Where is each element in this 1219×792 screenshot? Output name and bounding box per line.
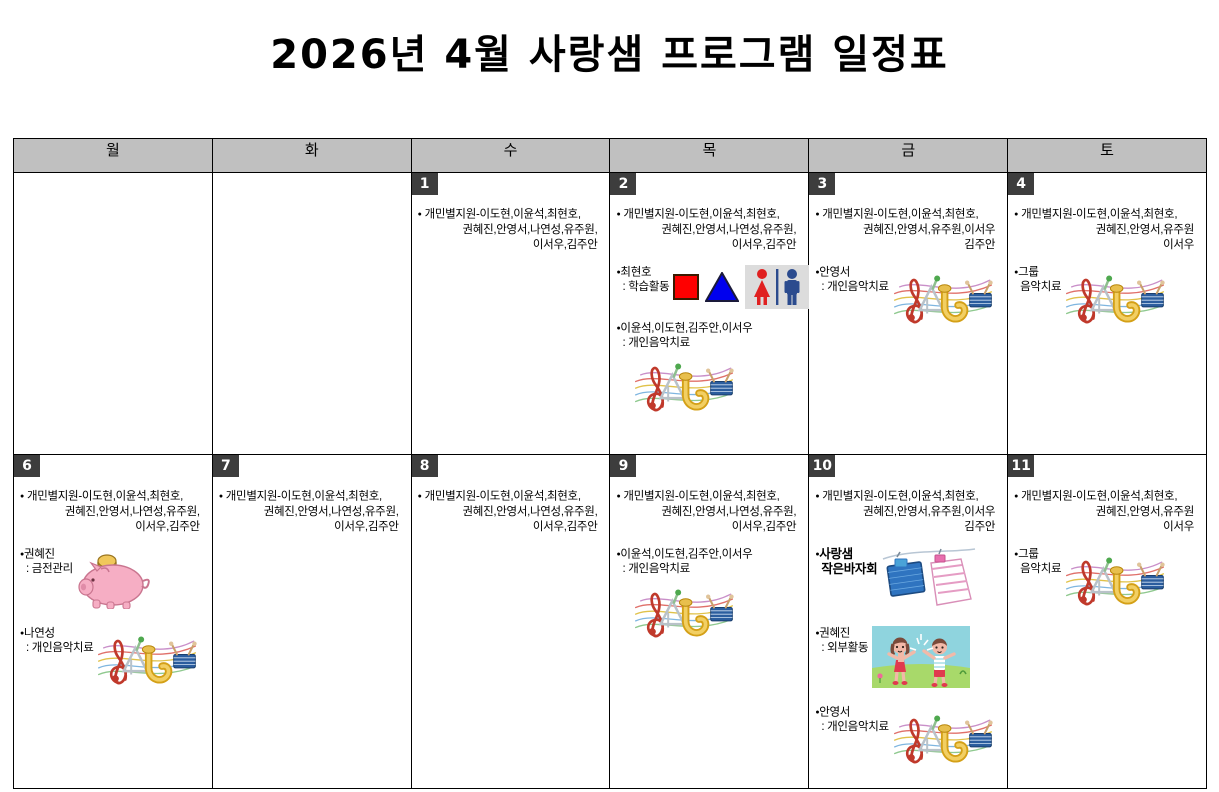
roster-line: 이서우,김주안: [418, 238, 602, 253]
program-entry: ●최현호: 학습활동: [616, 265, 802, 317]
day-cell-3[interactable]: 3●개민별지원-이도현,이윤석,최현호,권혜진,안영서,유주원,이서우김주안●안…: [809, 173, 1008, 455]
program-entry-row: ●안영서: 개인음악치료: [815, 265, 1001, 332]
day-cell-body: ●개민별지원-이도현,이윤석,최현호,권혜진,안영서,유주원,이서우김주안●안영…: [809, 173, 1007, 348]
program-title: ●그룹: [1014, 265, 1061, 281]
program-title: ●최현호: [616, 265, 669, 281]
roster-line: 권혜진,안영서,나연성,유주원,: [418, 223, 602, 238]
entry-spacer: [1014, 332, 1200, 340]
roster-line: ●개민별지원-이도현,이윤석,최현호,: [815, 489, 999, 505]
program-entry: ●권혜진: 금전관리: [20, 547, 206, 622]
calendar-container: 월화수목금토 1●개민별지원-이도현,이윤석,최현호,권혜진,안영서,나연성,유…: [13, 138, 1207, 789]
roster-line: 권혜진,안영서,나연성,유주원,: [418, 505, 602, 520]
day-number-badge: 8: [412, 455, 438, 477]
music-icon: [893, 265, 993, 327]
day-cell-body: ●개민별지원-이도현,이윤석,최현호,권혜진,안영서,유주원,이서우김주안●사랑…: [809, 455, 1007, 788]
program-entry-row: ●권혜진: 외부활동: [815, 626, 1001, 693]
roster-line-text: 이서우,김주안: [533, 239, 598, 251]
day-cell-10[interactable]: 10●개민별지원-이도현,이윤석,최현호,권혜진,안영서,유주원,이서우김주안●…: [809, 455, 1008, 789]
day-cell-body: ●개민별지원-이도현,이윤석,최현호,권혜진,안영서,나연성,유주원,이서우,김…: [610, 455, 808, 662]
program-entry-row: ●이윤석,이도현,김주안,이서우: 개인음악치료: [616, 547, 802, 647]
day-number-badge: 1: [412, 173, 438, 195]
day-cell-body: ●개민별지원-이도현,이윤석,최현호,권혜진,안영서,유주원이서우●그룹음악치료: [1008, 173, 1206, 348]
kids-outdoor-icon: [872, 626, 970, 688]
bullet-icon: ●: [219, 493, 223, 500]
day-cell-body: ●개민별지원-이도현,이윤석,최현호,권혜진,안영서,나연성,유주원,이서우,김…: [213, 455, 411, 551]
roster-line: 김주안: [815, 520, 999, 535]
roster-line-text: 권혜진,안영서,유주원,이서우: [863, 506, 995, 518]
day-cell-1[interactable]: 1●개민별지원-이도현,이윤석,최현호,권혜진,안영서,나연성,유주원,이서우,…: [411, 173, 610, 455]
piggybank-icon: [77, 547, 155, 609]
program-title-text: 그룹: [1018, 266, 1039, 278]
entry-spacer: [815, 614, 1001, 622]
treble-clef-icon: [907, 719, 922, 761]
entry-spacer: [616, 309, 802, 317]
program-clipart: [872, 626, 970, 693]
roster-line-text: 이서우,김주안: [135, 521, 200, 533]
day-number-badge: 2: [610, 173, 636, 195]
entry-spacer: [20, 614, 206, 622]
roster-line: 권혜진,안영서,유주원: [1014, 505, 1198, 520]
program-title-text: 이윤석,이도현,김주안,이서우: [620, 322, 752, 334]
triangle-instrument-icon: [1092, 557, 1115, 595]
day-cell-body: [14, 173, 212, 211]
roster-line: ●개민별지원-이도현,이윤석,최현호,: [219, 489, 403, 505]
roster-line: 권혜진,안영서,나연성,유주원,: [219, 505, 403, 520]
roster-line-text: 개민별지원-이도현,이윤석,최현호,: [1021, 491, 1177, 503]
day-cell-8[interactable]: 8●개민별지원-이도현,이윤석,최현호,권혜진,안영서,나연성,유주원,이서우,…: [411, 455, 610, 789]
day-cell-body: ●개민별지원-이도현,이윤석,최현호,권혜진,안영서,유주원이서우●그룹음악치료: [1008, 455, 1206, 630]
program-clipart: [97, 626, 197, 693]
roster-line-text: 김주안: [964, 521, 995, 533]
roster-entry: ●개민별지원-이도현,이윤석,최현호,권혜진,안영서,나연성,유주원,이서우,김…: [20, 489, 206, 543]
roster-entry: ●개민별지원-이도현,이윤석,최현호,권혜진,안영서,유주원,이서우김주안: [815, 207, 1001, 261]
program-entry: ●그룹음악치료: [1014, 265, 1200, 340]
roster-line: 이서우: [1014, 238, 1198, 253]
program-title: ●이윤석,이도현,김주안,이서우: [616, 547, 802, 563]
program-entry-text: ●그룹음악치료: [1014, 265, 1061, 296]
bullet-icon: ●: [418, 493, 422, 500]
program-subtitle: : 개인음악치료: [815, 720, 888, 735]
day-cell-body: ●개민별지원-이도현,이윤석,최현호,권혜진,안영서,나연성,유주원,이서우,김…: [610, 173, 808, 436]
program-entry-text: ●권혜진: 금전관리: [20, 547, 73, 578]
entry-spacer: [20, 693, 206, 701]
program-title: ●안영서: [815, 265, 888, 281]
day-number-badge: 10: [809, 455, 835, 477]
roster-line-text: 권혜진,안영서,나연성,유주원,: [661, 224, 796, 236]
blue-triangle-icon: [705, 272, 739, 302]
day-cell-11[interactable]: 11●개민별지원-이도현,이윤석,최현호,권혜진,안영서,유주원이서우●그룹음악…: [1008, 455, 1207, 789]
day-cell-2[interactable]: 2●개민별지원-이도현,이윤석,최현호,권혜진,안영서,나연성,유주원,이서우,…: [610, 173, 809, 455]
music-icon: [893, 705, 993, 767]
entry-spacer: [815, 693, 1001, 701]
triangle-instrument-icon: [919, 715, 942, 753]
day-number-badge: 6: [14, 455, 40, 477]
triangle-instrument-icon: [1092, 275, 1115, 313]
program-title: ●이윤석,이도현,김주안,이서우: [616, 321, 802, 337]
red-square-icon: [673, 274, 699, 300]
program-entry: ●이윤석,이도현,김주안,이서우: 개인음악치료: [616, 321, 802, 429]
triangle-instrument-icon: [661, 364, 684, 402]
shapes-restroom-icon: [673, 265, 809, 309]
roster-line-text: 권혜진,안영서,나연성,유주원,: [661, 506, 796, 518]
restroom-sign-icon: [745, 265, 809, 309]
entry-spacer: [1014, 535, 1200, 543]
bullet-icon: ●: [815, 493, 819, 500]
roster-line: 권혜진,안영서,나연성,유주원,: [616, 505, 800, 520]
saxophone-icon: [1111, 566, 1137, 600]
day-cell-6[interactable]: 6●개민별지원-이도현,이윤석,최현호,권혜진,안영서,나연성,유주원,이서우,…: [14, 455, 213, 789]
bullet-icon: ●: [815, 211, 819, 218]
bullet-icon: ●: [616, 493, 620, 500]
program-entry-row: ●그룹음악치료: [1014, 265, 1200, 332]
program-entry-row: ●사랑샘작은바자회: [815, 547, 1001, 614]
bullet-icon: ●: [418, 211, 422, 218]
weekday-header-4: 금: [809, 139, 1008, 173]
program-title-text: 사랑샘: [819, 547, 853, 561]
roster-line: 권혜진,안영서,유주원,이서우: [815, 505, 999, 520]
day-number-badge: 4: [1008, 173, 1034, 195]
roster-line: 권혜진,안영서,나연성,유주원,: [616, 223, 800, 238]
program-entry: ●권혜진: 외부활동: [815, 626, 1001, 701]
roster-line-text: 권혜진,안영서,유주원: [1096, 506, 1194, 518]
roster-line-text: 개민별지원-이도현,이윤석,최현호,: [425, 209, 581, 221]
roster-line: ●개민별지원-이도현,이윤석,최현호,: [815, 207, 999, 223]
program-entry-text: ●안영서: 개인음악치료: [815, 705, 888, 736]
day-cell-body: ●개민별지원-이도현,이윤석,최현호,권혜진,안영서,나연성,유주원,이서우,김…: [412, 173, 610, 269]
program-title-text: 나연성: [24, 627, 55, 639]
roster-line-text: 개민별지원-이도현,이윤석,최현호,: [1021, 209, 1177, 221]
program-entry: ●이윤석,이도현,김주안,이서우: 개인음악치료: [616, 547, 802, 655]
entry-spacer: [418, 535, 604, 543]
program-subtitle: 작은바자회: [815, 562, 877, 577]
entry-spacer: [815, 332, 1001, 340]
pink-skirt-icon: [931, 549, 971, 605]
program-subtitle: : 개인음악치료: [616, 336, 802, 351]
roster-entry: ●개민별지원-이도현,이윤석,최현호,권혜진,안영서,유주원,이서우김주안: [815, 489, 1001, 543]
bullet-icon: ●: [1014, 211, 1018, 218]
roster-line: 김주안: [815, 238, 999, 253]
calendar-header-row: 월화수목금토: [14, 139, 1207, 173]
triangle-instrument-icon: [661, 590, 684, 628]
entry-spacer: [815, 772, 1001, 780]
roster-line: 권혜진,안영서,유주원,이서우: [815, 223, 999, 238]
program-title: ●사랑샘: [815, 547, 877, 562]
entry-spacer: [815, 535, 1001, 543]
program-subtitle: : 개인음악치료: [616, 562, 802, 577]
entry-spacer: [616, 535, 802, 543]
program-subtitle: : 학습활동: [616, 280, 669, 295]
saxophone-icon: [1111, 284, 1137, 318]
roster-entry: ●개민별지원-이도현,이윤석,최현호,권혜진,안영서,유주원이서우: [1014, 207, 1200, 261]
roster-line-text: 이서우,김주안: [732, 521, 797, 533]
weekday-header-0: 월: [14, 139, 213, 173]
treble-clef-icon: [907, 279, 922, 321]
treble-clef-icon: [649, 594, 664, 636]
program-title-text: 권혜진: [819, 627, 850, 639]
treble-clef-icon: [649, 368, 664, 410]
program-entry: ●사랑샘작은바자회: [815, 547, 1001, 622]
page-title: 2026년 4월 사랑샘 프로그램 일정표: [0, 0, 1219, 80]
roster-line: 권혜진,안영서,나연성,유주원,: [20, 505, 204, 520]
program-clipart: [881, 547, 977, 614]
program-entry: ●안영서: 개인음악치료: [815, 705, 1001, 780]
program-clipart: [893, 265, 993, 332]
schedule-page: 2026년 4월 사랑샘 프로그램 일정표 월화수목금토 1●개민별지원-이도현…: [0, 0, 1219, 792]
saxophone-icon: [938, 284, 964, 318]
program-entry-text: ●안영서: 개인음악치료: [815, 265, 888, 296]
program-title: ●안영서: [815, 705, 888, 721]
entry-spacer: [1014, 614, 1200, 622]
program-subtitle: : 개인음악치료: [815, 280, 888, 295]
program-title-text: 안영서: [819, 706, 850, 718]
saxophone-icon: [938, 724, 964, 758]
roster-entry: ●개민별지원-이도현,이윤석,최현호,권혜진,안영서,나연성,유주원,이서우,김…: [418, 489, 604, 543]
roster-line: 권혜진,안영서,유주원: [1014, 223, 1198, 238]
program-entry-row: ●나연성: 개인음악치료: [20, 626, 206, 693]
calendar-table: 월화수목금토 1●개민별지원-이도현,이윤석,최현호,권혜진,안영서,나연성,유…: [13, 138, 1207, 789]
program-clipart: [1065, 265, 1165, 332]
day-cell-body: ●개민별지원-이도현,이윤석,최현호,권혜진,안영서,나연성,유주원,이서우,김…: [412, 455, 610, 551]
program-title: ●권혜진: [20, 547, 73, 563]
entry-spacer: [616, 253, 802, 261]
day-number-badge: 9: [610, 455, 636, 477]
program-clipart: [673, 265, 809, 309]
bullet-icon: ●: [20, 493, 24, 500]
roster-line: ●개민별지원-이도현,이윤석,최현호,: [20, 489, 204, 505]
day-cell-empty[interactable]: [14, 173, 213, 455]
treble-clef-icon: [1079, 561, 1094, 603]
roster-line-text: 개민별지원-이도현,이윤석,최현호,: [822, 209, 978, 221]
clothes-bazaar-icon: [881, 547, 977, 609]
program-subtitle: 음악치료: [1014, 280, 1061, 295]
roster-line-text: 권혜진,안영서,나연성,유주원,: [65, 506, 200, 518]
treble-clef-icon: [1079, 279, 1094, 321]
program-title-text: 그룹: [1018, 548, 1039, 560]
music-icon: [1065, 265, 1165, 327]
program-entry-row: ●그룹음악치료: [1014, 547, 1200, 614]
roster-line: 이서우,김주안: [418, 520, 602, 535]
program-clipart: [634, 353, 802, 420]
day-number-badge: 3: [809, 173, 835, 195]
roster-line-text: 개민별지원-이도현,이윤석,최현호,: [226, 491, 382, 503]
entry-spacer: [616, 646, 802, 654]
program-entry-text: ●이윤석,이도현,김주안,이서우: 개인음악치료: [616, 547, 802, 578]
program-title-text: 권혜진: [24, 548, 55, 560]
program-clipart: [77, 547, 155, 614]
roster-line-text: 개민별지원-이도현,이윤석,최현호,: [623, 209, 779, 221]
triangle-instrument-icon: [124, 636, 147, 674]
roster-line-text: 개민별지원-이도현,이윤석,최현호,: [27, 491, 183, 503]
roster-line: 이서우,김주안: [20, 520, 204, 535]
program-title-text: 이윤석,이도현,김주안,이서우: [620, 548, 752, 560]
roster-line: ●개민별지원-이도현,이윤석,최현호,: [616, 207, 800, 223]
program-entry-text: ●권혜진: 외부활동: [815, 626, 868, 657]
calendar-week-row: 1●개민별지원-이도현,이윤석,최현호,권혜진,안영서,나연성,유주원,이서우,…: [14, 173, 1207, 455]
roster-line-text: 개민별지원-이도현,이윤석,최현호,: [425, 491, 581, 503]
program-entry: ●안영서: 개인음악치료: [815, 265, 1001, 340]
roster-entry: ●개민별지원-이도현,이윤석,최현호,권혜진,안영서,나연성,유주원,이서우,김…: [219, 489, 405, 543]
calendar-week-row: 6●개민별지원-이도현,이윤석,최현호,권혜진,안영서,나연성,유주원,이서우,…: [14, 455, 1207, 789]
day-cell-body: [213, 173, 411, 211]
program-entry-row: ●이윤석,이도현,김주안,이서우: 개인음악치료: [616, 321, 802, 421]
roster-line: 이서우,김주안: [219, 520, 403, 535]
program-entry-row: ●권혜진: 금전관리: [20, 547, 206, 614]
music-icon: [634, 353, 734, 415]
entry-spacer: [418, 253, 604, 261]
roster-line: ●개민별지원-이도현,이윤석,최현호,: [616, 489, 800, 505]
program-entry: ●그룹음악치료: [1014, 547, 1200, 622]
triangle-instrument-icon: [919, 275, 942, 313]
entry-spacer: [616, 420, 802, 428]
roster-line: ●개민별지원-이도현,이윤석,최현호,: [1014, 207, 1198, 223]
entry-spacer: [219, 535, 405, 543]
program-title: ●권혜진: [815, 626, 868, 642]
saxophone-icon: [680, 599, 706, 633]
day-cell-empty[interactable]: [212, 173, 411, 455]
roster-entry: ●개민별지원-이도현,이윤석,최현호,권혜진,안영서,나연성,유주원,이서우,김…: [418, 207, 604, 261]
music-icon: [97, 626, 197, 688]
program-title: ●그룹: [1014, 547, 1061, 563]
program-title-text: 최현호: [620, 266, 651, 278]
program-entry-text: ●최현호: 학습활동: [616, 265, 669, 296]
program-entry-text: ●그룹음악치료: [1014, 547, 1061, 578]
program-clipart: [1065, 547, 1165, 614]
bullet-icon: ●: [616, 211, 620, 218]
roster-line-text: 이서우,김주안: [334, 521, 399, 533]
roster-line-text: 권혜진,안영서,나연성,유주원,: [264, 506, 399, 518]
roster-line-text: 개민별지원-이도현,이윤석,최현호,: [623, 491, 779, 503]
music-icon: [634, 579, 734, 641]
blue-garment-icon: [887, 552, 925, 596]
roster-entry: ●개민별지원-이도현,이윤석,최현호,권혜진,안영서,유주원이서우: [1014, 489, 1200, 543]
roster-line-text: 권혜진,안영서,유주원: [1096, 224, 1194, 236]
roster-line-text: 이서우: [1163, 239, 1194, 251]
day-cell-4[interactable]: 4●개민별지원-이도현,이윤석,최현호,권혜진,안영서,유주원이서우●그룹음악치…: [1008, 173, 1207, 455]
day-cell-7[interactable]: 7●개민별지원-이도현,이윤석,최현호,권혜진,안영서,나연성,유주원,이서우,…: [212, 455, 411, 789]
saxophone-icon: [143, 645, 169, 679]
day-number-badge: 11: [1008, 455, 1034, 477]
program-entry-text: ●나연성: 개인음악치료: [20, 626, 93, 657]
entry-spacer: [1014, 253, 1200, 261]
roster-line-text: 개민별지원-이도현,이윤석,최현호,: [822, 491, 978, 503]
weekday-header-5: 토: [1008, 139, 1207, 173]
roster-line-text: 권혜진,안영서,나연성,유주원,: [463, 506, 598, 518]
program-entry-text: ●사랑샘작은바자회: [815, 547, 877, 577]
program-entry: ●나연성: 개인음악치료: [20, 626, 206, 701]
weekday-header-3: 목: [610, 139, 809, 173]
weekday-header-1: 화: [212, 139, 411, 173]
music-icon: [1065, 547, 1165, 609]
program-title-text: 안영서: [819, 266, 850, 278]
roster-line: 이서우: [1014, 520, 1198, 535]
treble-clef-icon: [112, 640, 127, 682]
roster-line-text: 권혜진,안영서,유주원,이서우: [863, 224, 995, 236]
entry-spacer: [815, 253, 1001, 261]
program-subtitle: : 외부활동: [815, 641, 868, 656]
program-clipart: [893, 705, 993, 772]
program-entry-text: ●이윤석,이도현,김주안,이서우: 개인음악치료: [616, 321, 802, 352]
day-number-badge: 7: [213, 455, 239, 477]
saxophone-icon: [680, 373, 706, 407]
bullet-icon: ●: [1014, 493, 1018, 500]
roster-line-text: 권혜진,안영서,나연성,유주원,: [463, 224, 598, 236]
weekday-header-2: 수: [411, 139, 610, 173]
program-entry-row: ●안영서: 개인음악치료: [815, 705, 1001, 772]
entry-spacer: [20, 535, 206, 543]
roster-line: ●개민별지원-이도현,이윤석,최현호,: [418, 489, 602, 505]
roster-entry: ●개민별지원-이도현,이윤석,최현호,권혜진,안영서,나연성,유주원,이서우,김…: [616, 489, 802, 543]
roster-entry: ●개민별지원-이도현,이윤석,최현호,권혜진,안영서,나연성,유주원,이서우,김…: [616, 207, 802, 261]
program-entry-row: ●최현호: 학습활동: [616, 265, 802, 309]
roster-line: ●개민별지원-이도현,이윤석,최현호,: [1014, 489, 1198, 505]
program-subtitle: : 개인음악치료: [20, 641, 93, 656]
program-clipart: [634, 579, 802, 646]
day-cell-9[interactable]: 9●개민별지원-이도현,이윤석,최현호,권혜진,안영서,나연성,유주원,이서우,…: [610, 455, 809, 789]
day-cell-body: ●개민별지원-이도현,이윤석,최현호,권혜진,안영서,나연성,유주원,이서우,김…: [14, 455, 212, 709]
roster-line-text: 이서우,김주안: [533, 521, 598, 533]
roster-line: 이서우,김주안: [616, 520, 800, 535]
roster-line-text: 이서우,김주안: [732, 239, 797, 251]
roster-line-text: 김주안: [964, 239, 995, 251]
roster-line: 이서우,김주안: [616, 238, 800, 253]
program-subtitle: : 금전관리: [20, 562, 73, 577]
roster-line: ●개민별지원-이도현,이윤석,최현호,: [418, 207, 602, 223]
roster-line-text: 이서우: [1163, 521, 1194, 533]
program-title: ●나연성: [20, 626, 93, 642]
program-subtitle: 음악치료: [1014, 562, 1061, 577]
